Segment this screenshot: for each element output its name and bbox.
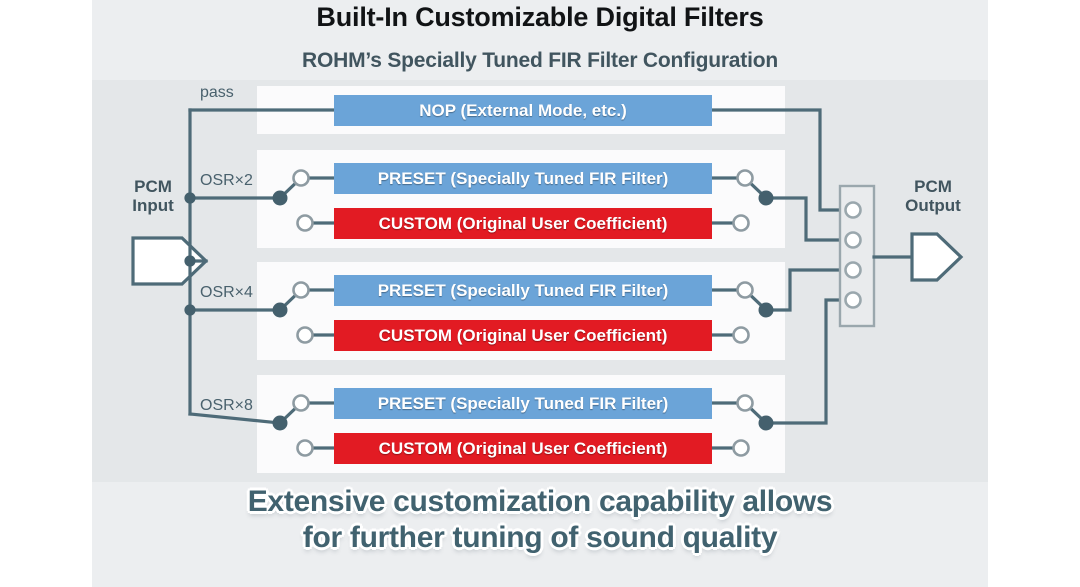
slide-root: Built-In Customizable Digital Filters RO… — [0, 0, 1080, 587]
block-preset-osr8[interactable]: PRESET (Specially Tuned FIR Filter) — [334, 388, 712, 419]
path-label-pass: pass — [200, 84, 234, 102]
tagline-line-1: Extensive customization capability allow… — [248, 485, 833, 518]
pcm-input-label: PCM Input — [118, 177, 188, 215]
path-label-osr4: OSR×4 — [200, 284, 253, 302]
tagline-line-2: for further tuning of sound quality — [303, 521, 777, 554]
block-preset-osr2[interactable]: PRESET (Specially Tuned FIR Filter) — [334, 163, 712, 194]
block-preset-osr4[interactable]: PRESET (Specially Tuned FIR Filter) — [334, 275, 712, 306]
block-nop[interactable]: NOP (External Mode, etc.) — [334, 95, 712, 126]
block-custom-osr4[interactable]: CUSTOM (Original User Coefficient) — [334, 320, 712, 351]
path-label-osr2: OSR×2 — [200, 172, 253, 190]
block-custom-osr8[interactable]: CUSTOM (Original User Coefficient) — [334, 433, 712, 464]
pcm-output-label: PCM Output — [890, 177, 976, 215]
path-label-osr8: OSR×8 — [200, 397, 253, 415]
block-custom-osr2[interactable]: CUSTOM (Original User Coefficient) — [334, 208, 712, 239]
tagline: Extensive customization capability allow… — [0, 484, 1080, 556]
